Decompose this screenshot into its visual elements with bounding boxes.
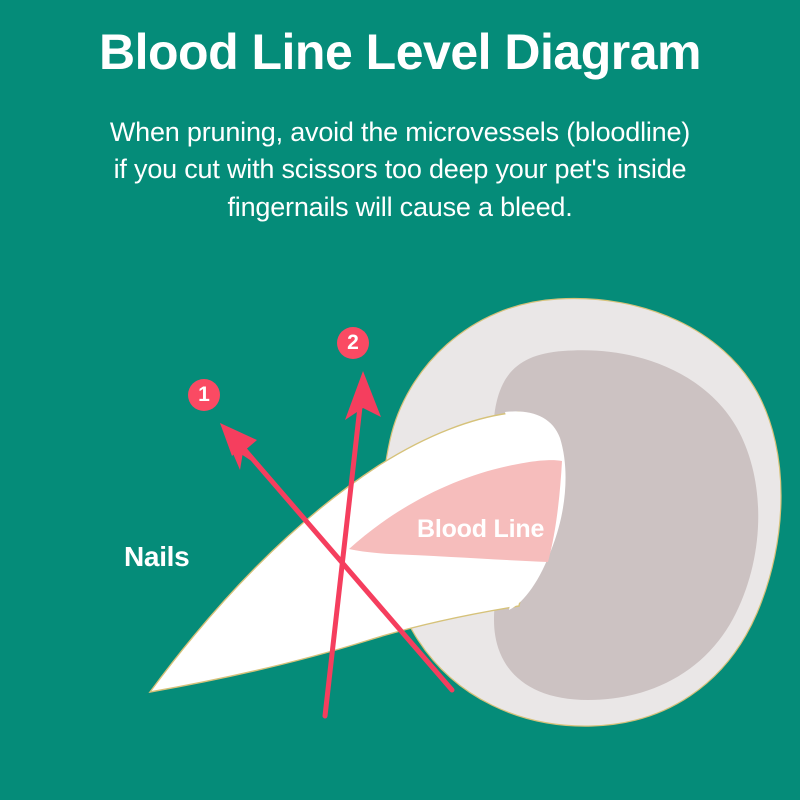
cut-line-1-arrowhead-fill	[220, 423, 257, 470]
badge-1: 1	[188, 379, 220, 411]
label-nails: Nails	[124, 541, 189, 573]
badge-2: 2	[337, 327, 369, 359]
blood-line-level-diagram-poster: Blood Line Level Diagram When pruning, a…	[0, 0, 800, 800]
label-blood-line: Blood Line	[417, 515, 544, 544]
cut-line-2-arrowhead	[345, 371, 381, 420]
nail-anatomy-illustration	[0, 0, 800, 800]
